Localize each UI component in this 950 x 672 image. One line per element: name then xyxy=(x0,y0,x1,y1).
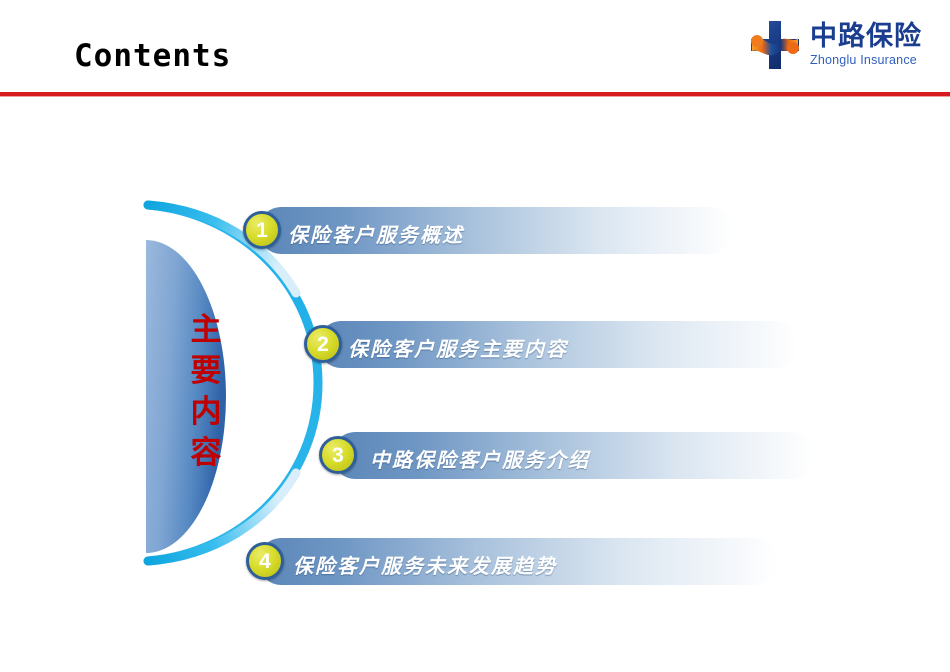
logo-chinese-name: 中路保险 xyxy=(810,23,922,50)
contents-diagram: 主 要 内 容 1 保险客户服务概述 2 保险客户服务主要内容 3 中路保险客户… xyxy=(0,95,950,672)
contents-badge-4-number: 4 xyxy=(259,551,271,572)
contents-item-1-label[interactable]: 保险客户服务概述 xyxy=(288,219,464,248)
contents-badge-1-number: 1 xyxy=(256,220,268,241)
slide-root: Contents xyxy=(0,0,950,672)
contents-item-2-label[interactable]: 保险客户服务主要内容 xyxy=(348,333,568,362)
dome-label-char-4: 容 xyxy=(181,433,231,474)
slide-header: Contents xyxy=(0,0,950,95)
contents-badge-3[interactable]: 3 xyxy=(319,436,357,474)
diagram-graphics xyxy=(0,95,950,672)
dome-label-char-2: 要 xyxy=(181,351,231,392)
contents-badge-1[interactable]: 1 xyxy=(243,211,281,249)
contents-badge-2-number: 2 xyxy=(317,334,329,355)
logo-english-name: Zhonglu Insurance xyxy=(810,54,922,67)
contents-item-3-label[interactable]: 中路保险客户服务介绍 xyxy=(370,444,590,473)
contents-item-4-label[interactable]: 保险客户服务未来发展趋势 xyxy=(293,550,557,579)
brand-logo: 中路保险 Zhonglu Insurance xyxy=(748,16,922,74)
logo-wordmark: 中路保险 Zhonglu Insurance xyxy=(810,23,922,67)
zhonglu-cross-logo-icon xyxy=(748,18,802,72)
contents-badge-4[interactable]: 4 xyxy=(246,542,284,580)
dome-label: 主 要 内 容 xyxy=(181,310,231,474)
page-title: Contents xyxy=(74,38,231,74)
dome-label-char-1: 主 xyxy=(181,310,231,351)
contents-badge-3-number: 3 xyxy=(332,445,344,466)
contents-badge-2[interactable]: 2 xyxy=(304,325,342,363)
dome-label-char-3: 内 xyxy=(181,392,231,433)
